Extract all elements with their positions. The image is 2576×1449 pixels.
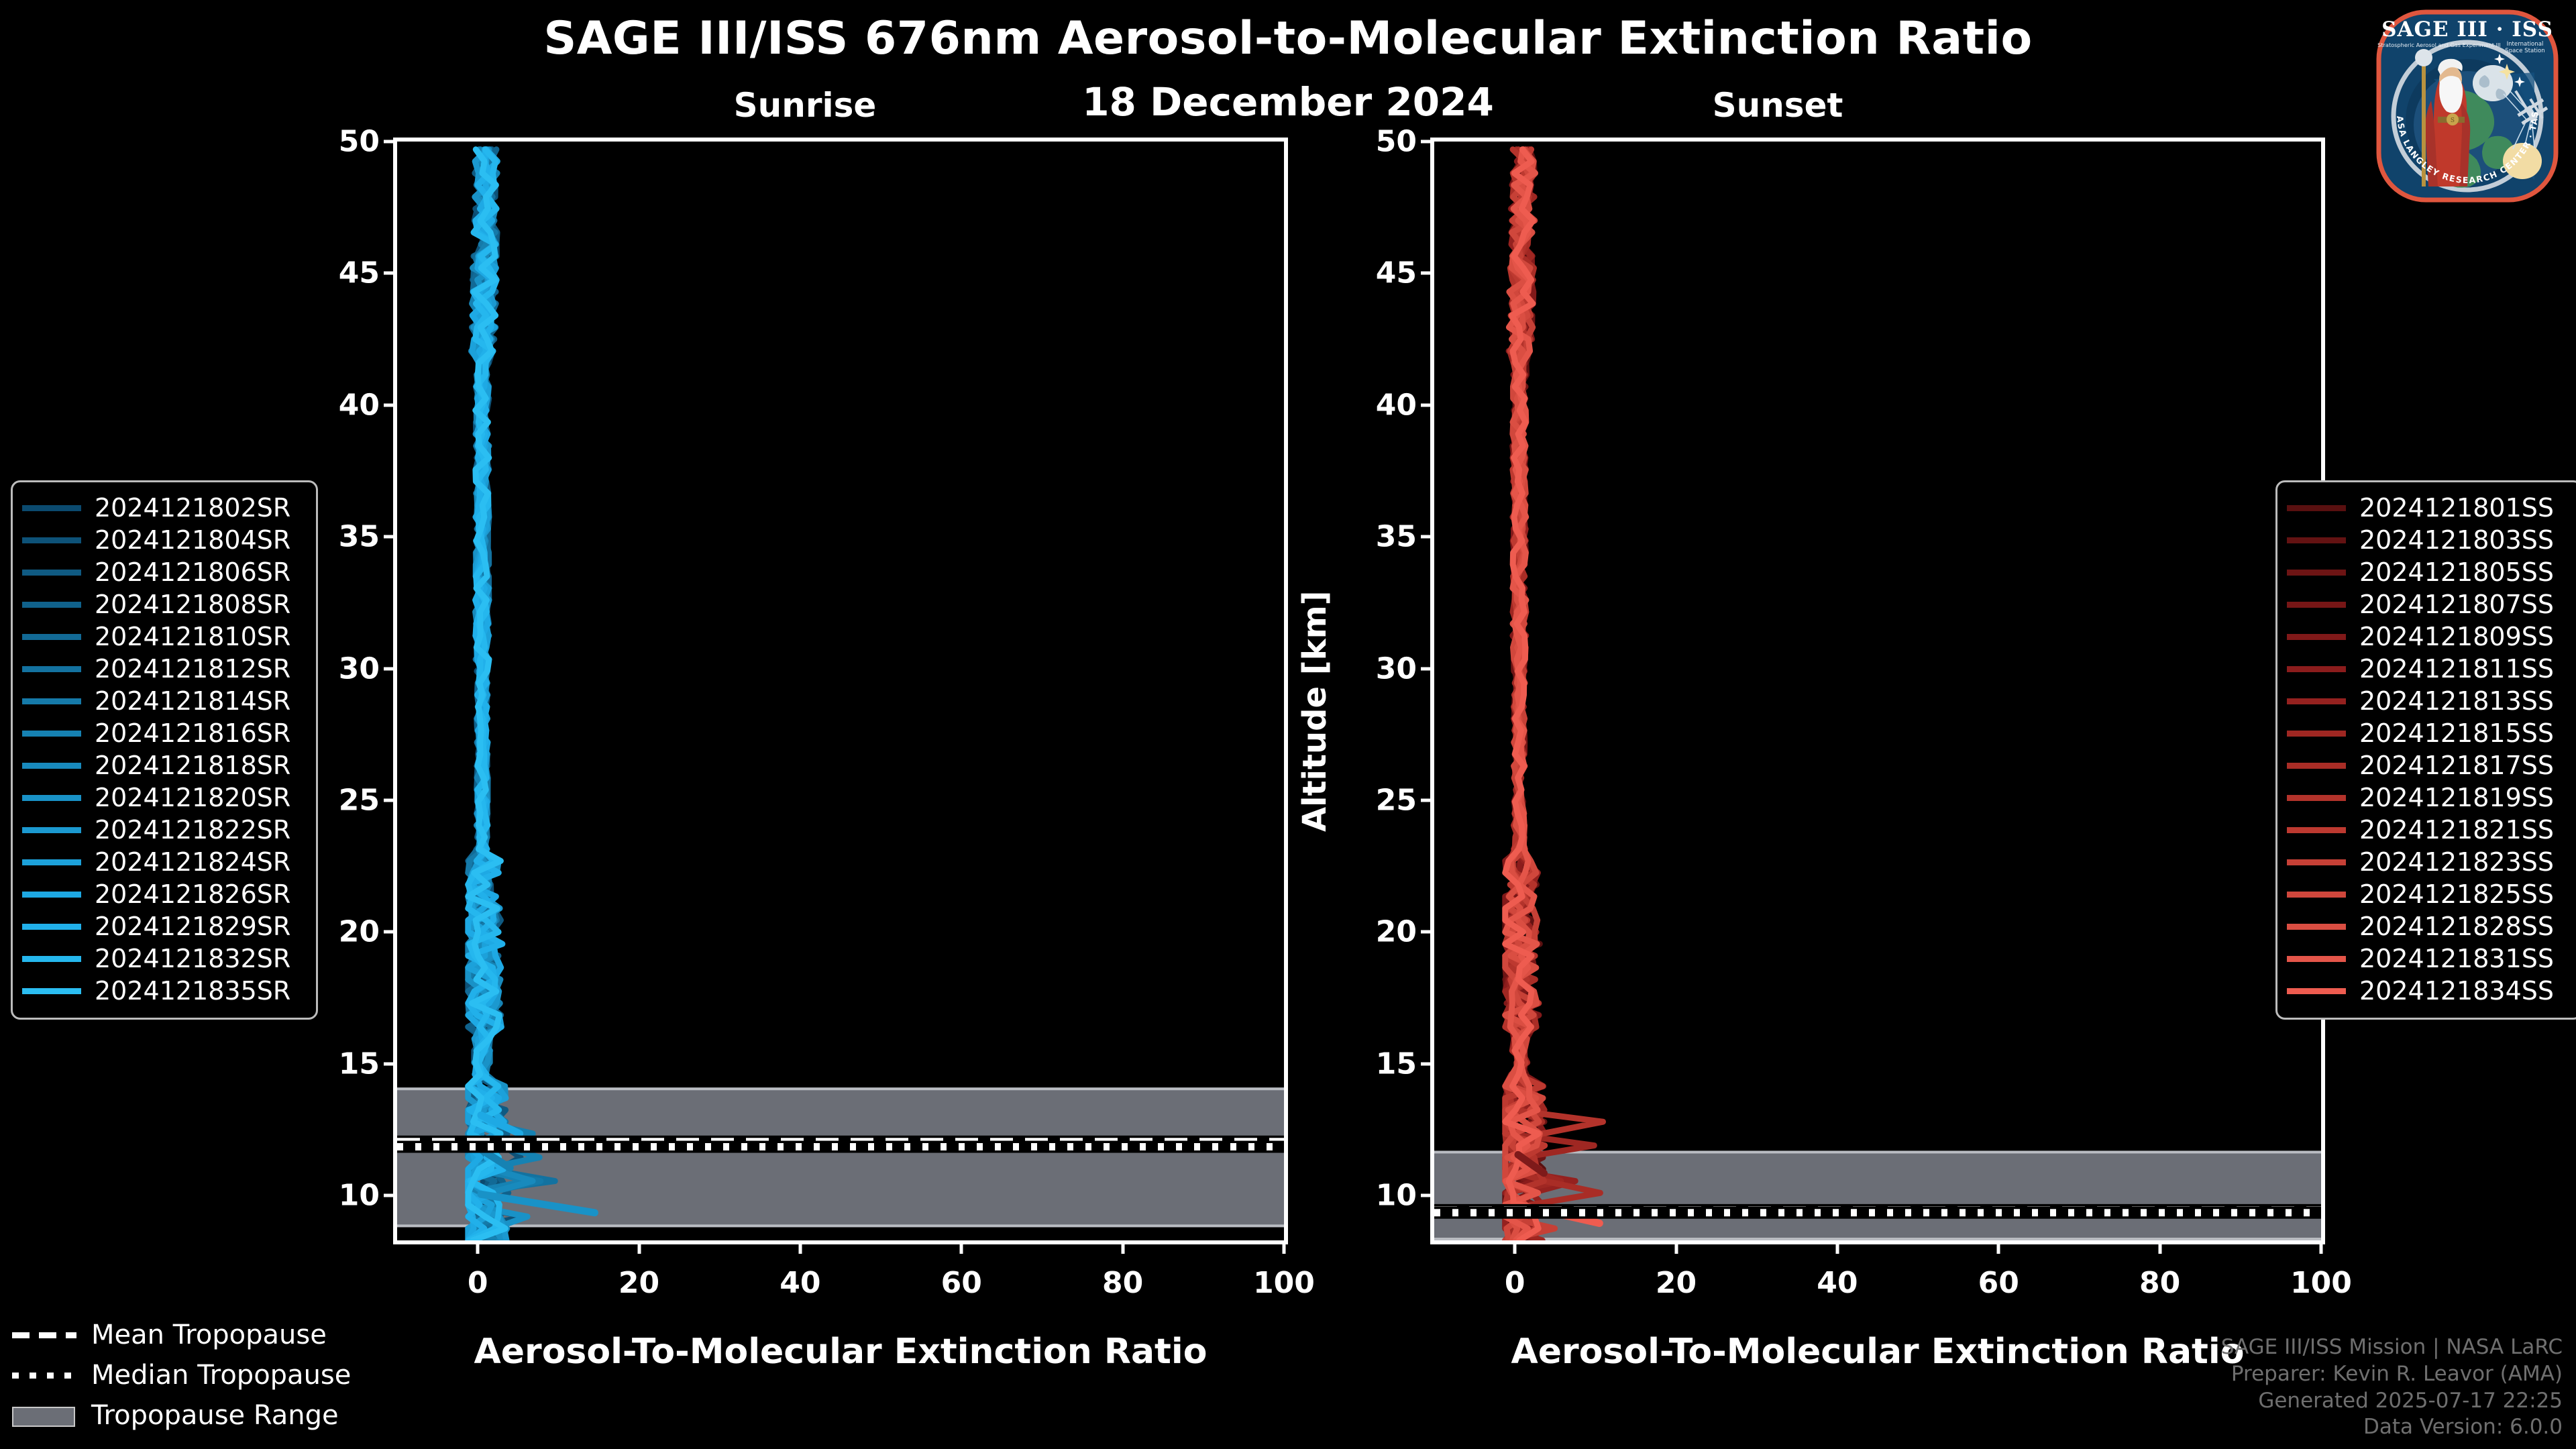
y-axis-tick-mark [384, 930, 397, 934]
legend-label-median-tropopause: Median Tropopause [91, 1360, 351, 1391]
legend-item[interactable]: 2024121820SR [22, 782, 304, 814]
y-axis-tick-mark [384, 140, 397, 144]
legend-item[interactable]: 2024121824SR [22, 846, 304, 878]
legend-event-label: 2024121805SS [2359, 557, 2554, 587]
legend-item[interactable]: 2024121831SS [2287, 943, 2569, 975]
x-axis-tick-mark [637, 1240, 641, 1254]
legend-event-label: 2024121831SS [2359, 944, 2554, 973]
legend-item[interactable]: 2024121813SS [2287, 685, 2569, 717]
legend-item[interactable]: 2024121804SR [22, 524, 304, 556]
y-axis-tick-label: 15 [1376, 1046, 1417, 1081]
legend-color-swatch [2287, 602, 2346, 608]
y-axis-tick-mark [1421, 1194, 1434, 1197]
legend-item[interactable]: 2024121811SS [2287, 653, 2569, 685]
y-axis-tick-mark [1421, 667, 1434, 670]
legend-event-label: 2024121823SS [2359, 847, 2554, 877]
legend-color-swatch [2287, 795, 2346, 801]
legend-item[interactable]: 2024121818SR [22, 749, 304, 782]
y-axis-tick-mark [1421, 535, 1434, 539]
x-axis-tick-mark [1121, 1240, 1124, 1254]
legend-color-swatch [22, 924, 81, 930]
x-axis-tick-mark [1674, 1240, 1678, 1254]
legend-color-swatch [22, 988, 81, 994]
x-axis-tick-label: 40 [1817, 1266, 1858, 1300]
legend-item[interactable]: 2024121832SR [22, 943, 304, 975]
legend-event-label: 2024121812SR [95, 654, 290, 684]
legend-color-swatch [22, 505, 81, 511]
x-axis-tick-mark [2320, 1240, 2323, 1254]
y-axis-tick-label: 25 [1376, 784, 1417, 818]
legend-event-label: 2024121809SS [2359, 622, 2554, 651]
x-axis-tick-mark [798, 1240, 802, 1254]
legend-item-median-tropopause[interactable]: Median Tropopause [12, 1355, 351, 1395]
y-axis-tick-mark [1421, 140, 1434, 144]
legend-event-label: 2024121821SS [2359, 815, 2554, 845]
legend-item[interactable]: 2024121822SR [22, 814, 304, 846]
y-axis-tick-mark [1421, 799, 1434, 802]
y-axis-tick-mark [1421, 930, 1434, 934]
legend-event-label: 2024121818SR [95, 751, 290, 780]
legend-color-swatch [2287, 537, 2346, 543]
legend-item[interactable]: 2024121805SS [2287, 556, 2569, 588]
legend-event-label: 2024121822SR [95, 815, 290, 845]
y-axis-tick-mark [384, 1062, 397, 1065]
y-axis-tick-label: 35 [339, 520, 380, 554]
legend-color-swatch [22, 795, 81, 801]
sunset-plot-panel: 101520253035404550020406080100 [1430, 138, 2325, 1244]
legend-item[interactable]: 2024121812SR [22, 653, 304, 685]
y-axis-tick-label: 35 [1376, 520, 1417, 554]
legend-color-swatch [2287, 698, 2346, 704]
x-axis-tick-mark [2158, 1240, 2161, 1254]
legend-event-label: 2024121832SR [95, 944, 290, 973]
legend-item[interactable]: 2024121815SS [2287, 717, 2569, 749]
y-axis-tick-label: 50 [1376, 125, 1417, 159]
legend-event-label: 2024121807SS [2359, 590, 2554, 619]
legend-item[interactable]: 2024121821SS [2287, 814, 2569, 846]
y-axis-tick-mark [1421, 272, 1434, 275]
sunset-event-legend[interactable]: 2024121801SS2024121803SS2024121805SS2024… [2275, 480, 2576, 1020]
x-axis-tick-mark [1835, 1240, 1839, 1254]
x-axis-tick-mark [960, 1240, 963, 1254]
legend-color-swatch [2287, 892, 2346, 898]
legend-color-swatch [22, 827, 81, 833]
x-axis-tick-label: 100 [2290, 1266, 2352, 1300]
legend-event-label: 2024121803SS [2359, 525, 2554, 555]
sunrise-x-axis-label: Aerosol-To-Molecular Extinction Ratio [393, 1332, 1288, 1372]
x-axis-tick-label: 60 [941, 1266, 982, 1300]
legend-color-swatch [22, 859, 81, 865]
legend-item[interactable]: 2024121807SS [2287, 588, 2569, 621]
legend-color-swatch [22, 731, 81, 737]
y-axis-tick-label: 10 [339, 1179, 380, 1213]
sunset-y-axis-label: Altitude [km] [1296, 590, 1334, 832]
x-axis-tick-label: 40 [780, 1266, 820, 1300]
legend-color-swatch [2287, 634, 2346, 640]
legend-color-swatch [2287, 924, 2346, 930]
filled-box-icon [12, 1405, 76, 1426]
y-axis-tick-label: 40 [339, 388, 380, 422]
svg-text:S: S [2451, 117, 2455, 124]
legend-label-mean-tropopause: Mean Tropopause [91, 1320, 327, 1350]
svg-text:SAGE III · ISS: SAGE III · ISS [2381, 17, 2553, 42]
y-axis-tick-label: 45 [339, 256, 380, 290]
legend-color-swatch [22, 698, 81, 704]
legend-color-swatch [2287, 666, 2346, 672]
legend-color-swatch [22, 634, 81, 640]
legend-item[interactable]: 2024121808SR [22, 588, 304, 621]
legend-color-swatch [2287, 570, 2346, 576]
legend-item[interactable]: 2024121826SR [22, 878, 304, 910]
legend-item[interactable]: 2024121823SS [2287, 846, 2569, 878]
attribution-line-mission: SAGE III/ISS Mission | NASA LaRC [2221, 1334, 2563, 1361]
legend-event-label: 2024121814SR [95, 686, 290, 716]
legend-event-label: 2024121808SR [95, 590, 290, 619]
legend-item[interactable]: 2024121819SS [2287, 782, 2569, 814]
legend-event-label: 2024121801SS [2359, 493, 2554, 523]
y-axis-tick-mark [384, 403, 397, 407]
x-axis-tick-mark [1997, 1240, 2000, 1254]
legend-item-tropopause-range[interactable]: Tropopause Range [12, 1395, 351, 1436]
y-axis-tick-label: 20 [1376, 915, 1417, 949]
x-axis-tick-mark [1283, 1240, 1286, 1254]
legend-event-label: 2024121811SS [2359, 654, 2554, 684]
y-axis-tick-mark [384, 535, 397, 539]
y-axis-tick-mark [384, 667, 397, 670]
legend-event-label: 2024121826SR [95, 879, 290, 909]
x-axis-tick-mark [476, 1240, 480, 1254]
legend-item[interactable]: 2024121801SS [2287, 492, 2569, 524]
sunset-x-axis-label: Aerosol-To-Molecular Extinction Ratio [1430, 1332, 2325, 1372]
y-axis-tick-mark [384, 799, 397, 802]
y-axis-tick-label: 45 [1376, 256, 1417, 290]
legend-event-label: 2024121835SR [95, 976, 290, 1006]
legend-color-swatch [2287, 731, 2346, 737]
x-axis-tick-mark [1513, 1240, 1517, 1254]
y-axis-tick-label: 20 [339, 915, 380, 949]
legend-color-swatch [22, 537, 81, 543]
legend-event-label: 2024121820SR [95, 783, 290, 812]
x-axis-tick-label: 80 [1102, 1266, 1143, 1300]
legend-color-swatch [2287, 859, 2346, 865]
y-axis-tick-label: 50 [339, 125, 380, 159]
x-axis-tick-label: 20 [619, 1266, 659, 1300]
attribution-line-generated: Generated 2025-07-17 22:25 [2221, 1388, 2563, 1415]
y-axis-tick-label: 30 [1376, 651, 1417, 686]
legend-color-swatch [22, 956, 81, 962]
legend-color-swatch [2287, 505, 2346, 511]
legend-item[interactable]: 2024121806SR [22, 556, 304, 588]
legend-color-swatch [2287, 988, 2346, 994]
legend-event-label: 2024121815SS [2359, 718, 2554, 748]
y-axis-tick-label: 10 [1376, 1179, 1417, 1213]
sunrise-plot-panel: 101520253035404550020406080100 [393, 138, 1288, 1244]
legend-item[interactable]: 2024121835SR [22, 975, 304, 1007]
legend-event-label: 2024121813SS [2359, 686, 2554, 716]
legend-event-label: 2024121824SR [95, 847, 290, 877]
tropopause-legend[interactable]: Mean Tropopause Median Tropopause Tropop… [12, 1315, 351, 1436]
svg-text:Stratospheric Aerosol and Gas: Stratospheric Aerosol and Gas Experiment… [2377, 42, 2501, 48]
sage-iii-iss-logo: S SAGE III · ISS Stratospheric Aerosol a… [2367, 5, 2568, 207]
legend-event-label: 2024121806SR [95, 557, 290, 587]
legend-item[interactable]: 2024121834SS [2287, 975, 2569, 1007]
x-axis-tick-label: 0 [1505, 1266, 1525, 1300]
legend-item[interactable]: 2024121809SS [2287, 621, 2569, 653]
x-axis-tick-label: 100 [1253, 1266, 1315, 1300]
legend-item[interactable]: 2024121829SR [22, 910, 304, 943]
legend-item[interactable]: 2024121825SS [2287, 878, 2569, 910]
legend-event-label: 2024121816SR [95, 718, 290, 748]
legend-label-tropopause-range: Tropopause Range [91, 1400, 339, 1431]
legend-color-swatch [2287, 956, 2346, 962]
y-axis-tick-mark [1421, 403, 1434, 407]
sunset-panel-title: Sunset [1590, 86, 1966, 125]
legend-color-swatch [22, 570, 81, 576]
legend-item[interactable]: 2024121817SS [2287, 749, 2569, 782]
attribution-block: SAGE III/ISS Mission | NASA LaRC Prepare… [2221, 1334, 2563, 1441]
x-axis-tick-label: 60 [1978, 1266, 2019, 1300]
legend-event-label: 2024121834SS [2359, 976, 2554, 1006]
dashed-line-icon [12, 1325, 76, 1345]
legend-event-label: 2024121817SS [2359, 751, 2554, 780]
legend-color-swatch [22, 666, 81, 672]
y-axis-tick-mark [384, 1194, 397, 1197]
legend-event-label: 2024121819SS [2359, 783, 2554, 812]
y-axis-tick-label: 25 [339, 784, 380, 818]
legend-event-label: 2024121810SR [95, 622, 290, 651]
sunset-plot-area [1434, 142, 2321, 1240]
y-axis-tick-label: 15 [339, 1046, 380, 1081]
legend-color-swatch [2287, 827, 2346, 833]
y-axis-tick-label: 40 [1376, 388, 1417, 422]
y-axis-tick-label: 30 [339, 651, 380, 686]
date-subtitle: 18 December 2024 [0, 79, 2576, 125]
page-title: SAGE III/ISS 676nm Aerosol-to-Molecular … [0, 12, 2576, 65]
legend-item-mean-tropopause[interactable]: Mean Tropopause [12, 1315, 351, 1355]
legend-event-label: 2024121804SR [95, 525, 290, 555]
svg-text:Space Station: Space Station [2505, 48, 2544, 54]
x-axis-tick-label: 80 [2139, 1266, 2180, 1300]
sunrise-plot-area [397, 142, 1284, 1240]
sunrise-panel-title: Sunrise [617, 86, 993, 125]
legend-color-swatch [2287, 763, 2346, 769]
legend-item[interactable]: 2024121814SR [22, 685, 304, 717]
sunrise-event-legend[interactable]: 2024121802SR2024121804SR2024121806SR2024… [11, 480, 318, 1020]
svg-text:International: International [2507, 41, 2544, 48]
attribution-line-version: Data Version: 6.0.0 [2221, 1414, 2563, 1441]
y-axis-tick-mark [1421, 1062, 1434, 1065]
x-axis-tick-label: 0 [468, 1266, 488, 1300]
legend-color-swatch [22, 892, 81, 898]
dotted-line-icon [12, 1365, 76, 1385]
legend-item[interactable]: 2024121802SR [22, 492, 304, 524]
attribution-line-preparer: Preparer: Kevin R. Leavor (AMA) [2221, 1361, 2563, 1388]
legend-event-label: 2024121829SR [95, 912, 290, 941]
legend-item[interactable]: 2024121810SR [22, 621, 304, 653]
legend-event-label: 2024121825SS [2359, 879, 2554, 909]
legend-color-swatch [22, 763, 81, 769]
y-axis-tick-mark [384, 272, 397, 275]
legend-item[interactable]: 2024121816SR [22, 717, 304, 749]
legend-color-swatch [22, 602, 81, 608]
x-axis-tick-label: 20 [1656, 1266, 1697, 1300]
legend-event-label: 2024121828SS [2359, 912, 2554, 941]
legend-item[interactable]: 2024121828SS [2287, 910, 2569, 943]
legend-event-label: 2024121802SR [95, 493, 290, 523]
legend-item[interactable]: 2024121803SS [2287, 524, 2569, 556]
